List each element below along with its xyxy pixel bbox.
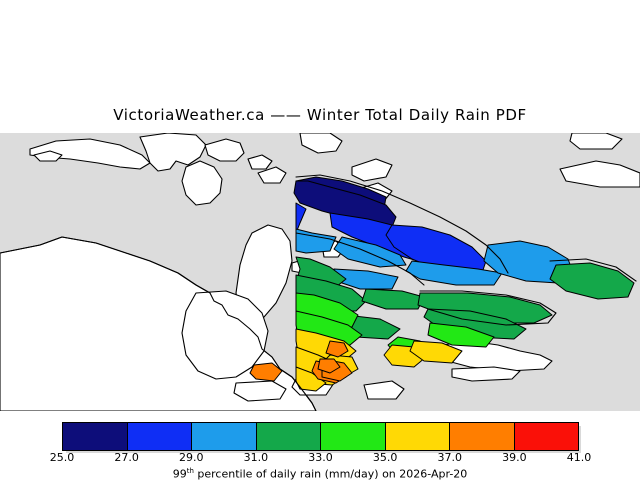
colorbar-segment-39.0-41.0[interactable] <box>515 423 579 450</box>
weather-map-figure: VictoriaWeather.ca —— Winter Total Daily… <box>0 0 640 480</box>
colorbar-tick-labels: 25.027.029.031.033.035.037.039.041.0 <box>0 451 640 465</box>
land-islet-se-strip-2 <box>452 367 520 381</box>
colorbar-tick-31.0: 31.0 <box>226 451 286 464</box>
colorbar-caption: 99th percentile of daily rain (mm/day) o… <box>0 467 640 481</box>
colorbar-tick-35.0: 35.0 <box>355 451 415 464</box>
colorbar-segment-35.0-37.0[interactable] <box>386 423 451 450</box>
colorbar-tick-29.0: 29.0 <box>161 451 221 464</box>
colorbar[interactable] <box>62 422 579 451</box>
colorbar-tick-25.0: 25.0 <box>32 451 92 464</box>
colorbar-segment-31.0-33.0[interactable] <box>257 423 322 450</box>
colorbar-area: 25.027.029.031.033.035.037.039.041.0 99t… <box>0 418 640 480</box>
colorbar-segment-27.0-29.0[interactable] <box>128 423 193 450</box>
colorbar-tick-27.0: 27.0 <box>97 451 157 464</box>
colorbar-tick-39.0: 39.0 <box>484 451 544 464</box>
colorbar-tick-33.0: 33.0 <box>291 451 351 464</box>
page-title: VictoriaWeather.ca —— Winter Total Daily… <box>0 106 640 124</box>
colorbar-segment-29.0-31.0[interactable] <box>192 423 257 450</box>
contour-map[interactable] <box>0 133 640 411</box>
colorbar-tick-41.0: 41.0 <box>549 451 609 464</box>
map-panel <box>0 133 640 411</box>
colorbar-segment-25.0-27.0[interactable] <box>63 423 128 450</box>
caption-superscript: th <box>187 467 194 475</box>
colorbar-segment-33.0-35.0[interactable] <box>321 423 386 450</box>
colorbar-tick-37.0: 37.0 <box>420 451 480 464</box>
land-islet-s-1 <box>234 381 286 401</box>
colorbar-segment-37.0-39.0[interactable] <box>450 423 515 450</box>
